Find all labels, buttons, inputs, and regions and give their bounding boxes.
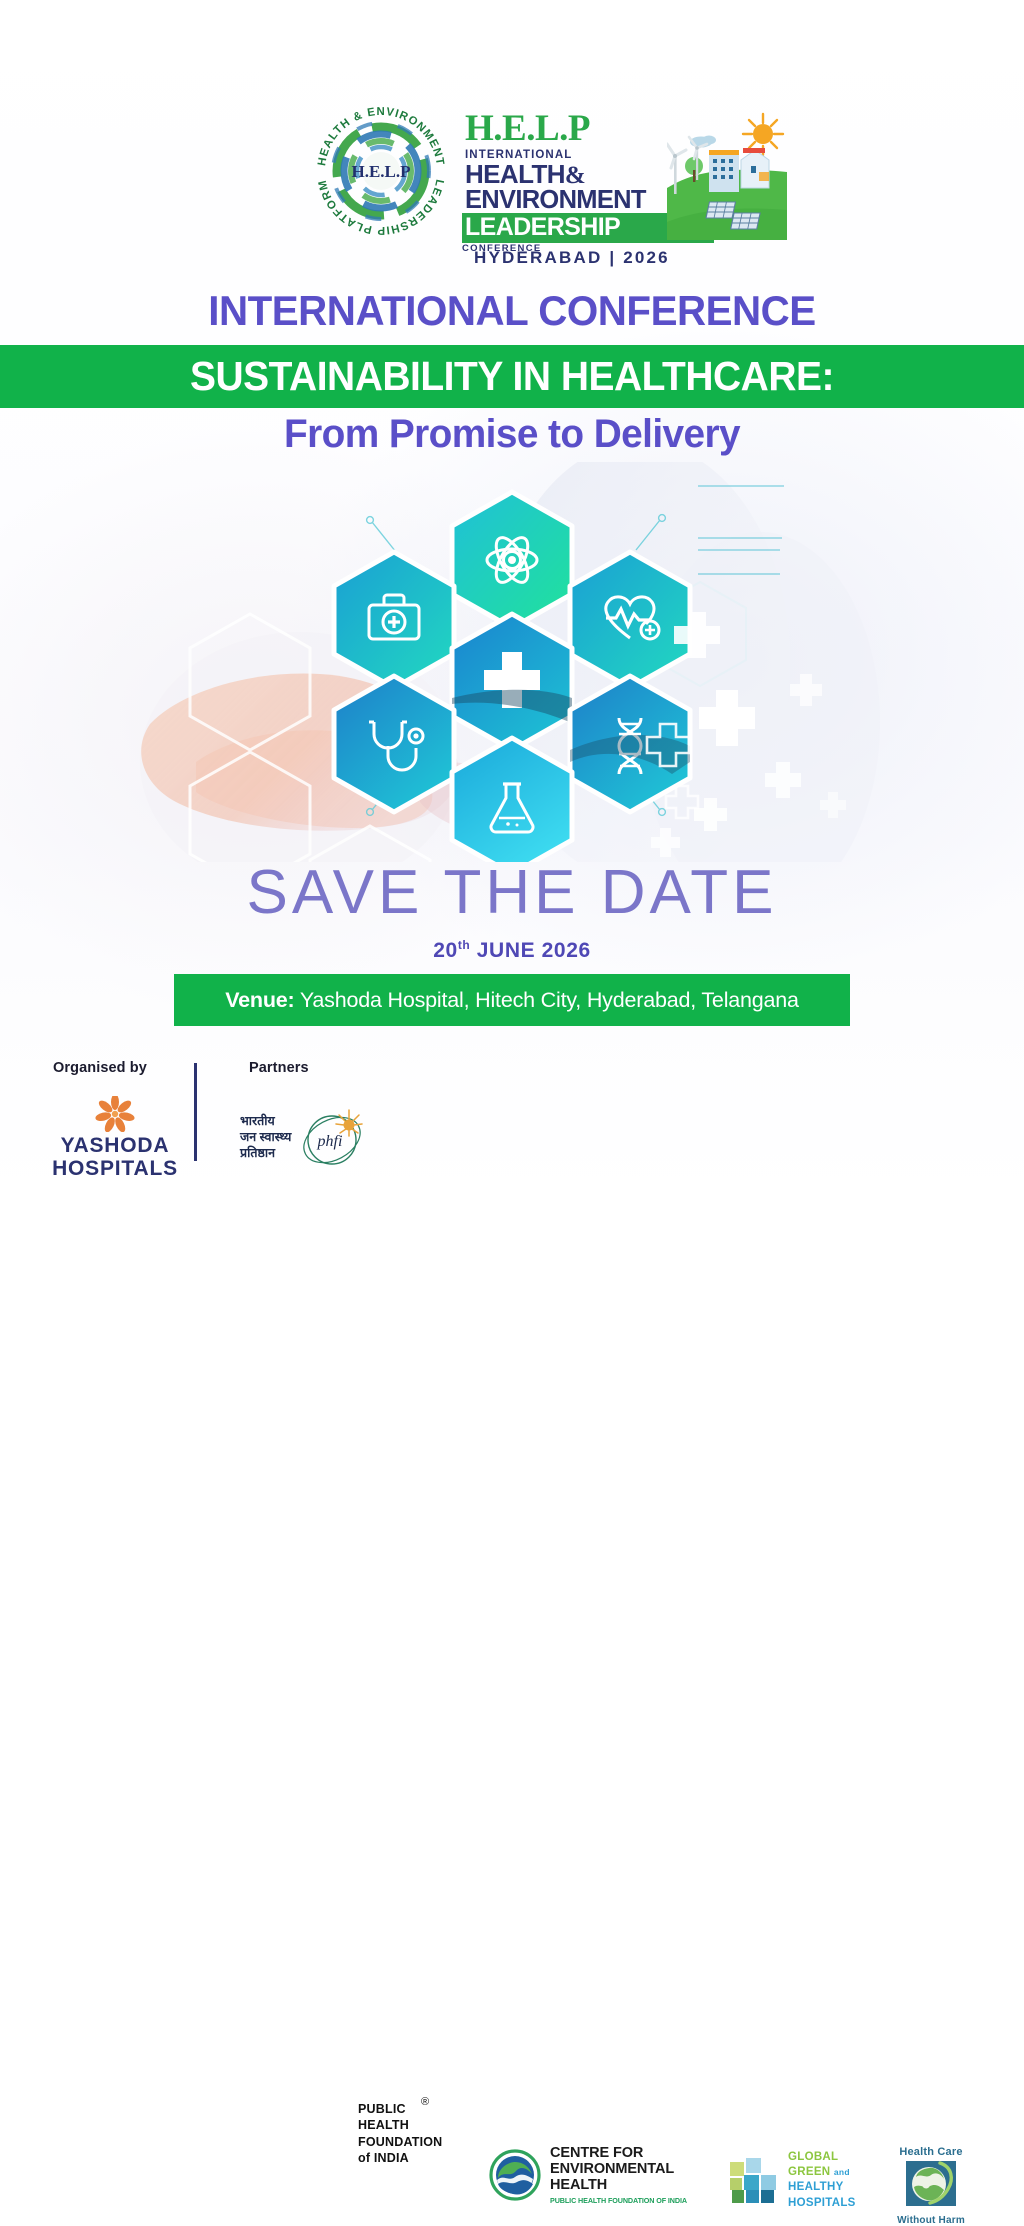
clinic-sign	[743, 148, 765, 153]
ceh-title: CENTRE FOR ENVIRONMENTAL HEALTH	[550, 2146, 687, 2194]
phfi-hindi-text: भारतीय जन स्वास्थ्य प्रतिष्ठान	[240, 1113, 291, 1161]
partners-label: Partners	[249, 1060, 309, 1076]
event-day: 20	[433, 939, 458, 962]
gghh-line2: GREEN	[788, 2166, 830, 2178]
gghh-blocks-icon	[728, 2154, 780, 2206]
gghh-and: and	[834, 2167, 850, 2177]
venue-text: Venue: Yashoda Hospital, Hitech City, Hy…	[225, 988, 799, 1013]
venue-value: Yashoda Hospital, Hitech City, Hyderabad…	[300, 988, 799, 1012]
venue-bar: Venue: Yashoda Hospital, Hitech City, Hy…	[174, 974, 850, 1026]
partner-logo-phfi: भारतीय जन स्वास्थ्य प्रतिष्ठान phfi	[240, 1104, 369, 1170]
hcwh-bottom-text: Without Harm	[885, 2215, 977, 2226]
title-green-band: SUSTAINABILITY IN HEALTHCARE:	[0, 345, 1024, 408]
phfi-registered-mark: ®	[421, 2096, 429, 2108]
help-wordmark-block: H.E.L.P INTERNATIONAL HEALTH& ENVIRONMEN…	[462, 100, 714, 268]
footer: Organised by Partners YASHODA HOSPITALS	[0, 1048, 1024, 1200]
partner-logo-hcwh: Health Care Without Harm	[885, 2146, 977, 2226]
title-block: INTERNATIONAL CONFERENCE	[0, 289, 1024, 333]
phfi-english-text: PUBLIC HEALTH FOUNDATION of INDIA	[358, 2101, 442, 2166]
title-subtitle: From Promise to Delivery	[15, 412, 1008, 457]
yashoda-name-line2: HOSPITALS	[45, 1158, 185, 1181]
gghh-line2-wrap: GREEN and	[788, 2165, 856, 2180]
yashoda-name-line1: YASHODA	[45, 1135, 185, 1158]
gghh-line3: HEALTHY	[788, 2180, 856, 2195]
partner-logo-ceh: CENTRE FOR ENVIRONMENTAL HEALTH PUBLIC H…	[488, 2146, 687, 2205]
event-month-year: JUNE 2026	[477, 939, 591, 962]
hero-hexagon-graphic	[0, 462, 1024, 862]
emblem-center-text: H.E.L.P	[351, 162, 410, 181]
wordmark-conference: CONFERENCE	[462, 244, 714, 254]
footer-divider	[194, 1063, 197, 1161]
header-logo-row: H.E.L.P HEALTH & ENVIRONMENT LEADERSHIP …	[0, 100, 1024, 268]
organised-by-label: Organised by	[53, 1060, 147, 1076]
venue-label: Venue:	[225, 988, 294, 1012]
partner-logo-gghh: GLOBAL GREEN and HEALTHY HOSPITALS	[728, 2150, 856, 2211]
event-day-suffix: th	[458, 938, 471, 952]
title-international-conference: INTERNATIONAL CONFERENCE	[20, 289, 1003, 333]
phfi-mark-icon: phfi	[295, 1104, 369, 1170]
wordmark-health: HEALTH	[465, 159, 565, 189]
phfi-wordmark: phfi	[317, 1133, 343, 1150]
title-sustainability: SUSTAINABILITY IN HEALTHCARE:	[190, 356, 834, 397]
save-the-date-heading: SAVE THE DATE	[0, 862, 1024, 924]
event-date: 20th JUNE 2026	[0, 938, 1024, 963]
yashoda-flower-icon	[87, 1096, 143, 1132]
conference-poster: H.E.L.P HEALTH & ENVIRONMENT LEADERSHIP …	[0, 0, 1024, 1200]
hcwh-top-text: Health Care	[885, 2146, 977, 2158]
help-circular-emblem: H.E.L.P HEALTH & ENVIRONMENT LEADERSHIP …	[310, 100, 452, 242]
ceh-subtitle: PUBLIC HEALTH FOUNDATION OF INDIA	[550, 2196, 687, 2205]
sun-disc	[753, 124, 773, 144]
eco-scene-illustration	[667, 110, 787, 240]
ceh-globe-icon	[488, 2148, 542, 2202]
help-wordmark: H.E.L.P INTERNATIONAL HEALTH& ENVIRONMEN…	[462, 110, 714, 235]
organiser-logo-yashoda: YASHODA HOSPITALS	[45, 1096, 185, 1180]
gghh-line4: HOSPITALS	[788, 2196, 856, 2211]
hcwh-globe-icon	[900, 2159, 962, 2209]
gghh-text-block: GLOBAL GREEN and HEALTHY HOSPITALS	[788, 2150, 856, 2211]
wordmark-ampersand: &	[565, 162, 585, 189]
gghh-line1: GLOBAL	[788, 2150, 856, 2165]
